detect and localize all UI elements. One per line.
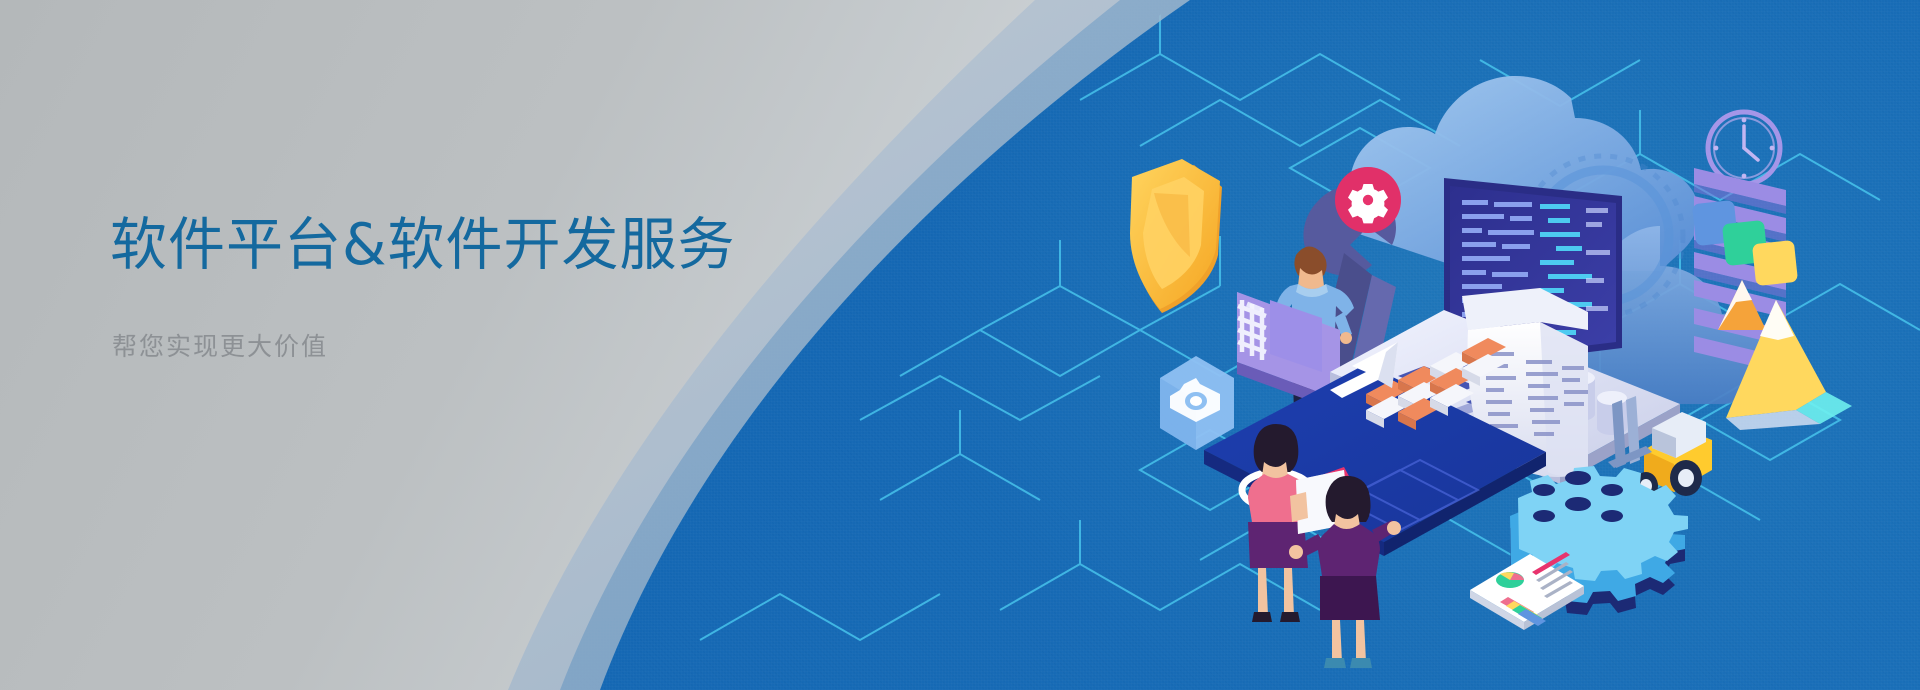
hero-banner: 软件平台&软件开发服务 帮您实现更大价值 — [0, 0, 1920, 690]
page-subtitle: 帮您实现更大价值 — [112, 327, 830, 363]
hero-text-block: 软件平台&软件开发服务 帮您实现更大价值 — [110, 212, 830, 363]
page-title: 软件平台&软件开发服务 — [110, 212, 830, 279]
